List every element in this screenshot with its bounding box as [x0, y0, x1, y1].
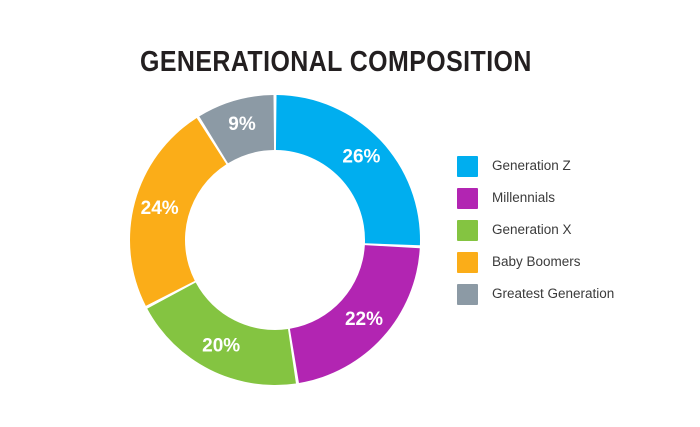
legend-item-millennials[interactable]: Millennials: [457, 182, 672, 214]
legend-item-generation-z[interactable]: Generation Z: [457, 150, 672, 182]
legend-swatch-millennials: [457, 188, 478, 209]
legend-swatch-generation-z: [457, 156, 478, 177]
donut-slice[interactable]: [147, 283, 296, 385]
donut-slice-label: 26%: [342, 147, 380, 168]
legend-label-generation-x: Generation X: [492, 223, 572, 237]
legend-item-baby-boomers[interactable]: Baby Boomers: [457, 246, 672, 278]
donut-slices: [130, 95, 420, 385]
legend: Generation Z Millennials Generation X Ba…: [457, 150, 672, 310]
legend-swatch-baby-boomers: [457, 252, 478, 273]
legend-item-generation-x[interactable]: Generation X: [457, 214, 672, 246]
legend-label-generation-z: Generation Z: [492, 159, 571, 173]
legend-label-baby-boomers: Baby Boomers: [492, 255, 581, 269]
legend-swatch-greatest-generation: [457, 284, 478, 305]
donut-slice-label: 9%: [228, 114, 256, 135]
donut-slice[interactable]: [276, 95, 420, 245]
donut-slice-label: 24%: [141, 198, 179, 219]
donut-slice-label: 22%: [345, 309, 383, 330]
legend-label-millennials: Millennials: [492, 191, 555, 205]
chart-canvas: GENERATIONAL COMPOSITION 26%22%20%24%9% …: [0, 0, 700, 427]
legend-swatch-generation-x: [457, 220, 478, 241]
legend-label-greatest-generation: Greatest Generation: [492, 287, 614, 301]
legend-item-greatest-generation[interactable]: Greatest Generation: [457, 278, 672, 310]
donut-slice-label: 20%: [202, 336, 240, 357]
